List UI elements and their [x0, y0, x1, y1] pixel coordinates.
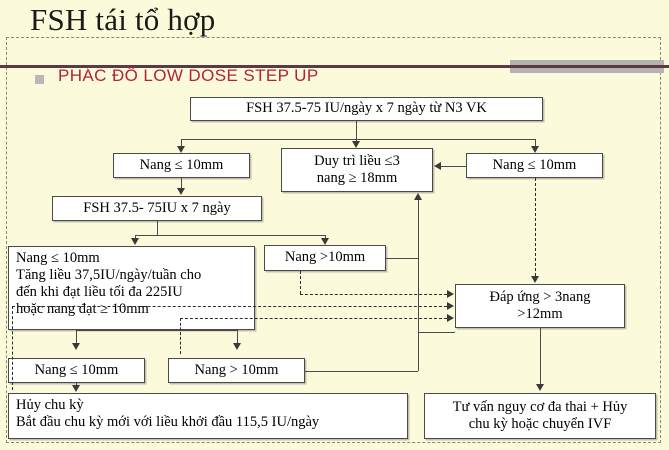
arrowhead-split-to-nang-gt — [321, 238, 329, 245]
connector-escalate-bottom-bus — [76, 330, 237, 331]
box-nang-le-10mm-left-label: Nang ≤ 10mm — [140, 157, 224, 174]
dashed-nang-gt-right — [300, 294, 447, 295]
square-bullet-icon — [35, 75, 44, 84]
box-response-line1: Đáp ứng > 3nang — [489, 289, 590, 306]
connector-feedback-riser — [418, 200, 419, 260]
arrowhead-dashed-right-nang — [531, 276, 539, 283]
connector-right-to-middle — [441, 166, 466, 167]
arrowhead-dashed-escalate — [447, 302, 454, 310]
dashed-lower-feed-riser — [180, 318, 181, 354]
arrowhead-dashed-nang-gt — [447, 290, 454, 298]
connector-fsh-repeat-down — [157, 221, 158, 235]
box-counsel-ivf-line1: Tư vấn nguy cơ đa thai + Hủy — [453, 399, 628, 416]
connector-nang-gt-right — [386, 258, 418, 259]
box-counsel-ivf: Tư vấn nguy cơ đa thai + Hủy chu kỳ hoặc… — [424, 393, 656, 439]
connector-response-down — [540, 328, 541, 385]
page-title: FSH tái tổ hợp — [30, 2, 215, 38]
box-dose-escalation-line4: hoặc nang đạt ≥ 10mm — [16, 301, 249, 318]
dashed-lower-feed — [180, 318, 447, 319]
connector-distribution-bus — [181, 139, 535, 140]
box-duy-tri-lieu: Duy trì liều ≤3 nang ≥ 18mm — [281, 148, 433, 192]
connector-row5-right-to-riser — [305, 371, 418, 372]
box-dose-escalation-line3: đến khi đạt liều tối đa 225IU — [16, 284, 249, 301]
box-response-line2: >12mm — [517, 306, 562, 323]
box-nang-le-10mm-bottom: Nang ≤ 10mm — [8, 358, 145, 383]
connector-escalate-to-row5-left — [76, 330, 77, 344]
connector-nang-gt-riser — [418, 258, 419, 332]
arrowhead-counsel-box — [536, 384, 544, 391]
arrowhead-right-to-middle — [434, 162, 441, 170]
arrowhead-bus-to-left — [177, 146, 185, 153]
arrowhead-bus-to-right — [531, 146, 539, 153]
box-cancel-cycle: Hủy chu kỳ Bắt đầu chu kỳ mới với liều k… — [8, 393, 408, 439]
arrowhead-split-to-escalate — [131, 238, 139, 245]
connector-split-bus — [135, 235, 325, 236]
slide-canvas: FSH tái tổ hợp PHÁC ĐỒ LOW DOSE STEP UP … — [0, 0, 669, 450]
arrowhead-cancel-box — [72, 385, 80, 392]
box-nang-gt-10mm-bottom-label: Nang > 10mm — [195, 362, 279, 379]
section-heading: PHÁC ĐỒ LOW DOSE STEP UP — [58, 66, 319, 86]
dashed-lower-left-riser — [12, 306, 13, 390]
box-cancel-cycle-line1: Hủy chu kỳ — [16, 397, 402, 414]
dashed-escalate-to-response — [12, 306, 447, 307]
box-nang-le-10mm-left: Nang ≤ 10mm — [113, 153, 250, 178]
connector-riser-to-response — [418, 332, 455, 333]
dashed-right-nang-to-response — [535, 178, 536, 276]
connector-start-down — [356, 121, 357, 139]
box-nang-le-10mm-bottom-label: Nang ≤ 10mm — [35, 362, 119, 379]
box-counsel-ivf-line2: chu kỳ hoặc chuyển IVF — [469, 416, 612, 433]
arrowhead-feedback-to-duy-tri — [414, 193, 422, 200]
box-dose-escalation-line2: Tăng liều 37,5IU/ngày/tuần cho — [16, 267, 249, 284]
box-fsh-repeat-label: FSH 37.5- 75IU x 7 ngày — [83, 200, 230, 217]
box-cancel-cycle-line2: Bắt đầu chu kỳ mới với liều khởi đầu 115… — [16, 414, 402, 431]
box-response-follicles: Đáp ứng > 3nang >12mm — [455, 284, 625, 328]
dashed-nang-gt-down — [300, 271, 301, 294]
box-nang-gt-10mm-label: Nang >10mm — [285, 249, 365, 266]
arrowhead-bus-to-middle — [352, 141, 360, 148]
arrowhead-row5-left — [72, 343, 80, 350]
connector-row5-right-riser — [418, 332, 419, 371]
box-dose-escalation-line1: Nang ≤ 10mm — [16, 250, 249, 267]
box-duy-tri-lieu-line1: Duy trì liều ≤3 — [314, 153, 400, 170]
box-nang-le-10mm-right: Nang ≤ 10mm — [466, 153, 603, 178]
heading-divider-rule-overlay — [510, 65, 664, 68]
connector-escalate-to-row5-right — [237, 330, 238, 344]
box-nang-le-10mm-right-label: Nang ≤ 10mm — [493, 157, 577, 174]
arrowhead-dashed-lower-feed — [447, 314, 454, 322]
box-nang-gt-10mm: Nang >10mm — [264, 245, 386, 271]
box-duy-tri-lieu-line2: nang ≥ 18mm — [317, 170, 397, 187]
arrowhead-left-nang-down — [177, 188, 185, 195]
box-nang-gt-10mm-bottom: Nang > 10mm — [168, 358, 305, 383]
box-start-fsh-dose: FSH 37.5-75 IU/ngày x 7 ngày từ N3 VK — [190, 97, 543, 121]
box-fsh-repeat: FSH 37.5- 75IU x 7 ngày — [52, 196, 262, 221]
box-start-label: FSH 37.5-75 IU/ngày x 7 ngày từ N3 VK — [246, 100, 487, 117]
arrowhead-row5-right — [233, 343, 241, 350]
